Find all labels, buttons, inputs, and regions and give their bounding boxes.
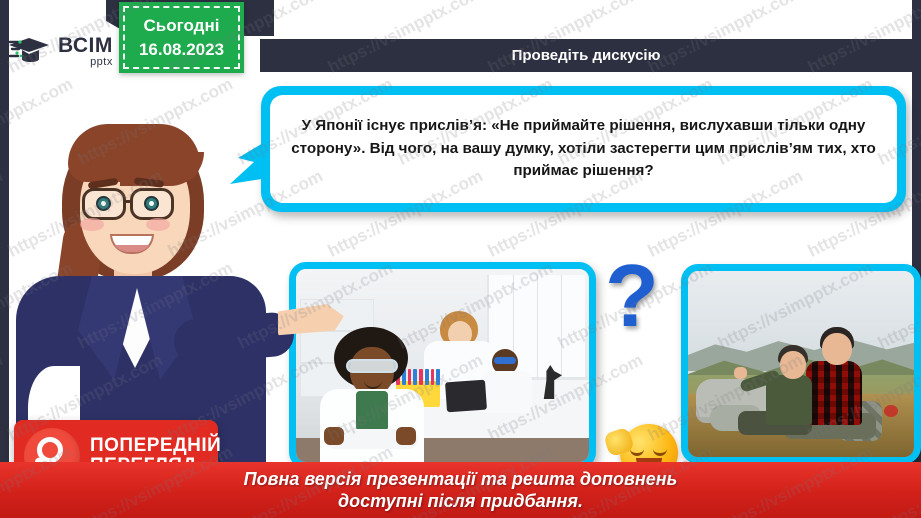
slide-title-bar: Проведіть дискусію	[260, 39, 912, 72]
preview-badge-line1: ПОПЕРЕДНІЙ	[90, 436, 221, 456]
presentation-slide: ВСІМ pptx Сьогодні 16.08.2023 Проведіть …	[0, 0, 921, 518]
purchase-notice-banner: Повна версія презентації та решта доповн…	[0, 462, 921, 518]
date-tag: Сьогодні 16.08.2023	[119, 2, 244, 73]
brand-logo: ВСІМ pptx	[9, 28, 129, 74]
banner-line-1: Повна версія презентації та решта доповн…	[244, 468, 678, 491]
discussion-question-text: У Японії існує прислів’я: «Не приймайте …	[286, 115, 881, 183]
banner-line-2: доступні після придбання.	[338, 490, 583, 513]
science-lab-photo	[289, 262, 596, 469]
graduation-cap-icon	[9, 34, 53, 68]
hiking-photo	[681, 264, 921, 464]
page-title: Проведіть дискусію	[512, 47, 661, 64]
logo-suffix-text: pptx	[58, 57, 113, 68]
speech-bubble: У Японії існує прислів’я: «Не приймайте …	[261, 86, 906, 212]
question-mark-icon: ?	[605, 252, 659, 340]
teacher-illustration	[6, 118, 296, 463]
logo-brand-text: ВСІМ	[58, 35, 113, 56]
date-tag-value: 16.08.2023	[139, 40, 224, 60]
date-tag-label: Сьогодні	[144, 16, 220, 36]
